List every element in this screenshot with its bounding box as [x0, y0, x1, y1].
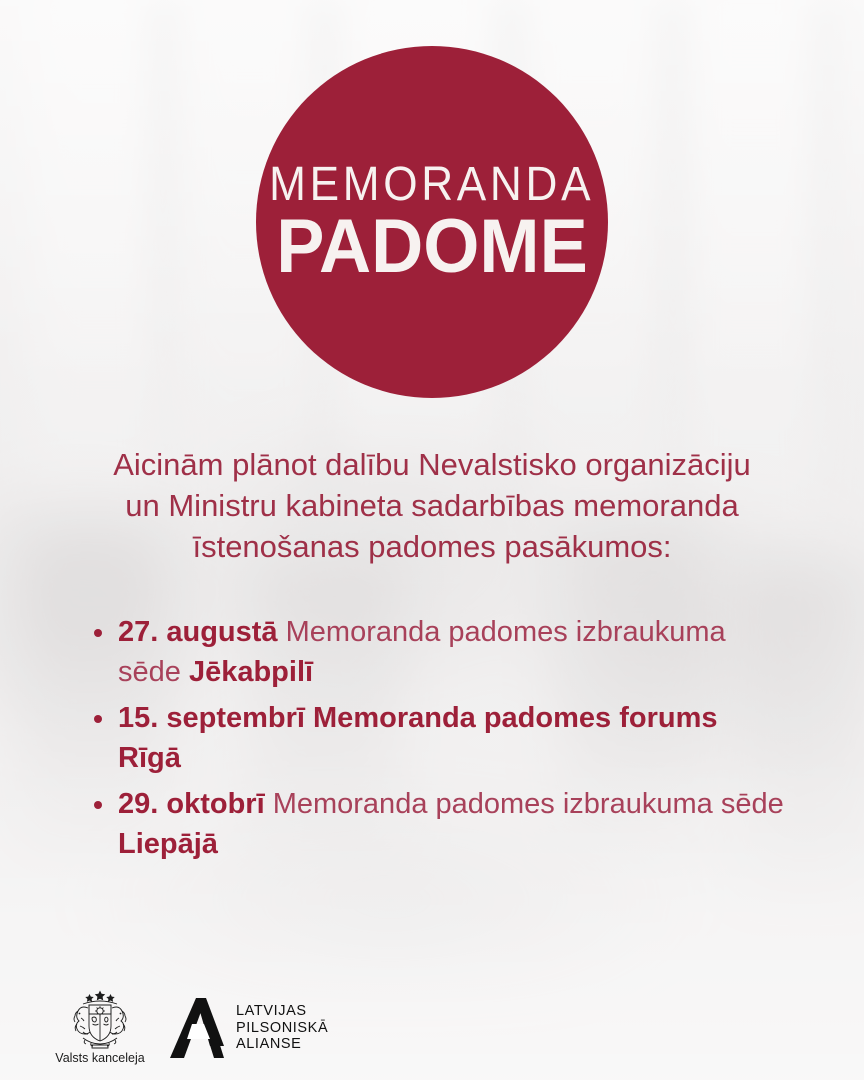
civic-alliance-line-3: ALIANSE [236, 1036, 328, 1053]
footer-logos: Valsts kanceleja LATVIJAS PILSONISKĀ ALI… [48, 988, 328, 1065]
bullet-icon [94, 801, 102, 809]
event-emphasis: Liepājā [118, 828, 218, 860]
list-item: 15. septembrī Memoranda padomes forums R… [86, 698, 786, 778]
event-list: 27. augustā Memoranda padomes izbraukuma… [86, 612, 786, 870]
list-item: 27. augustā Memoranda padomes izbraukuma… [86, 612, 786, 692]
latvian-coat-of-arms-icon [61, 988, 139, 1050]
bullet-icon [94, 629, 102, 637]
headline-line-3: īstenošanas padomes pasākumos: [50, 526, 814, 567]
logo-word-padome: PADOME [276, 211, 588, 284]
list-item: 29. oktobrī Memoranda padomes izbraukuma… [86, 784, 786, 864]
civic-alliance-logo: LATVIJAS PILSONISKĀ ALIANSE [170, 998, 328, 1064]
event-emphasis: 27. augustā [118, 616, 286, 648]
civic-alliance-wordmark: LATVIJAS PILSONISKĀ ALIANSE [236, 1003, 328, 1053]
state-chancellery-caption: Valsts kanceleja [55, 1052, 144, 1065]
bullet-icon [94, 715, 102, 723]
event-body: Memoranda padomes izbraukuma sēde [273, 788, 784, 820]
event-emphasis: 15. septembrī Memoranda padomes forums R… [118, 702, 718, 774]
event-text: 15. septembrī Memoranda padomes forums R… [118, 698, 786, 778]
memoranda-padome-logo: MEMORANDA PADOME [256, 46, 608, 398]
state-chancellery-logo: Valsts kanceleja [48, 988, 152, 1065]
headline-line-2: un Ministru kabineta sadarbības memorand… [50, 485, 814, 526]
civic-alliance-a-mark-icon [170, 998, 224, 1058]
civic-alliance-line-2: PILSONISKĀ [236, 1020, 328, 1037]
event-text: 29. oktobrī Memoranda padomes izbraukuma… [118, 784, 786, 864]
logo-word-memoranda: MEMORANDA [269, 161, 594, 209]
event-emphasis: 29. oktobrī [118, 788, 273, 820]
headline-line-1: Aicinām plānot dalību Nevalstisko organi… [50, 444, 814, 485]
event-emphasis: Jēkabpilī [189, 656, 313, 688]
poster-canvas: MEMORANDA PADOME Aicinām plānot dalību N… [0, 0, 864, 1080]
headline: Aicinām plānot dalību Nevalstisko organi… [50, 444, 814, 567]
civic-alliance-line-1: LATVIJAS [236, 1003, 328, 1020]
event-text: 27. augustā Memoranda padomes izbraukuma… [118, 612, 786, 692]
